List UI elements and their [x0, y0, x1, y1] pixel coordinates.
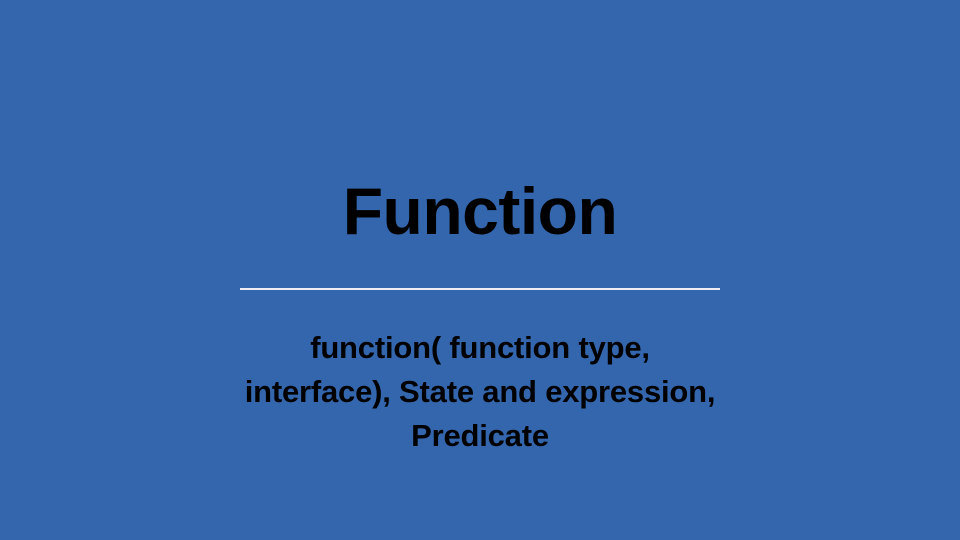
title-placeholder[interactable]: Function: [0, 178, 960, 246]
subtitle-text: function( function type, interface), Sta…: [240, 326, 720, 458]
subtitle-placeholder[interactable]: function( function type, interface), Sta…: [240, 326, 720, 458]
page-title: Function: [343, 178, 618, 246]
slide-content-area: Function function( function type, interf…: [0, 0, 960, 540]
title-divider: [240, 288, 720, 290]
presentation-slide: Function function( function type, interf…: [0, 0, 960, 540]
